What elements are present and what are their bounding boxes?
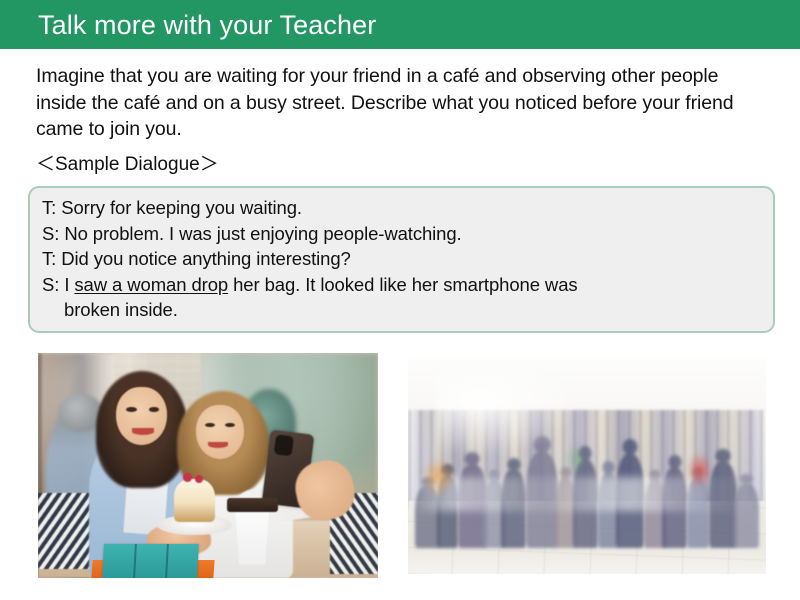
cafe-chevron-cushion-left [38,493,92,570]
woman-left-mouth [132,428,154,435]
teal-tablet-case [102,544,199,578]
woman-left-eye [149,407,160,412]
header-bar: Talk more with your Teacher [0,0,800,49]
sun-flare [437,367,580,458]
coffee-cup-lid [227,498,278,512]
strawberry-cake [174,479,215,522]
dialogue-line-continuation: broken inside. [42,297,763,323]
dialogue-line-suffix: her bag. It looked like her smartphone w… [228,274,577,295]
green-light-blur [566,444,587,474]
dialogue-line: T: Sorry for keeping you waiting. [42,195,763,221]
orange-light-blur [422,457,454,496]
dialogue-underlined-phrase: saw a woman drop [74,274,228,295]
dialogue-line-prefix: S: I [42,274,74,295]
red-light-blur [687,453,712,488]
cafe-friends-photo [38,353,378,578]
page-title: Talk more with your Teacher [38,9,376,41]
woman-right-face [196,405,244,459]
dialogue-line: S: No problem. I was just enjoying peopl… [42,221,763,247]
dialogue-line: S: I saw a woman drop her bag. It looked… [42,272,763,298]
motion-blur-streak [408,477,766,512]
woman-right-eye [205,423,215,428]
busy-street-photo [408,358,766,574]
dialogue-line-list: T: Sorry for keeping you waiting. S: No … [42,195,763,323]
sample-dialogue-box: T: Sorry for keeping you waiting. S: No … [28,186,775,333]
intro-paragraph: Imagine that you are waiting for your fr… [36,63,764,143]
dialogue-line: T: Did you notice anything interesting? [42,246,763,272]
sample-dialogue-label: ＜Sample Dialogue＞ [36,153,219,177]
